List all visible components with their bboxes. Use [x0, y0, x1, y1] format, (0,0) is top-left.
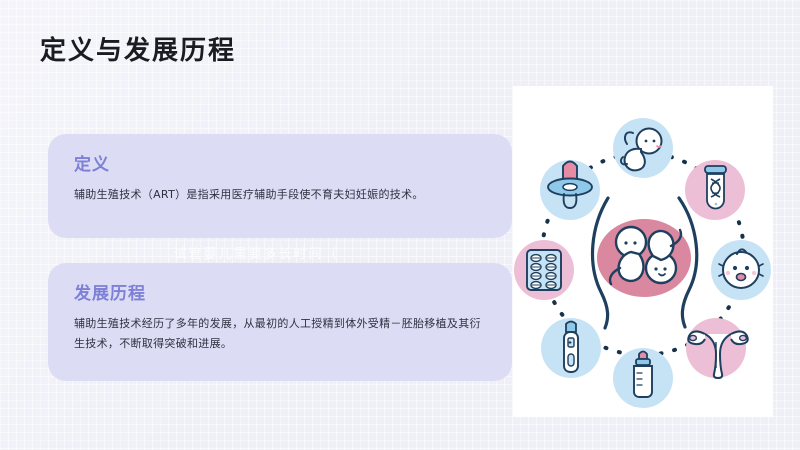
uterus-icon: [686, 318, 748, 378]
fertility-icon-wheel: [513, 86, 773, 417]
pregnancy-test-icon: [541, 318, 601, 378]
definition-card: 定义 辅助生殖技术（ART）是指采用医疗辅助手段使不育夫妇妊娠的技术。: [48, 134, 512, 238]
pregnant-belly-twins-illustration: [593, 198, 697, 328]
history-card-heading: 发展历程: [74, 279, 490, 304]
definition-card-body: 辅助生殖技术（ART）是指采用医疗辅助手段使不育夫妇妊娠的技术。: [74, 185, 490, 205]
page-title: 定义与发展历程: [40, 30, 236, 67]
illustration-panel: [513, 86, 773, 417]
history-card: 发展历程 辅助生殖技术经历了多年的发展，从最初的人工授精到体外受精－胚胎移植及其…: [48, 263, 512, 381]
dna-test-tube-icon: [685, 160, 745, 220]
fetus-icon: [613, 118, 673, 178]
definition-card-heading: 定义: [74, 150, 490, 175]
baby-bottle-icon: [613, 348, 673, 408]
pill-blister-icon: [514, 240, 574, 300]
womb-shape: [597, 219, 691, 297]
history-card-body: 辅助生殖技术经历了多年的发展，从最初的人工授精到体外受精－胚胎移植及其衍生技术，…: [74, 314, 490, 355]
pacifier-icon: [540, 160, 600, 220]
baby-face-icon: [711, 240, 771, 300]
